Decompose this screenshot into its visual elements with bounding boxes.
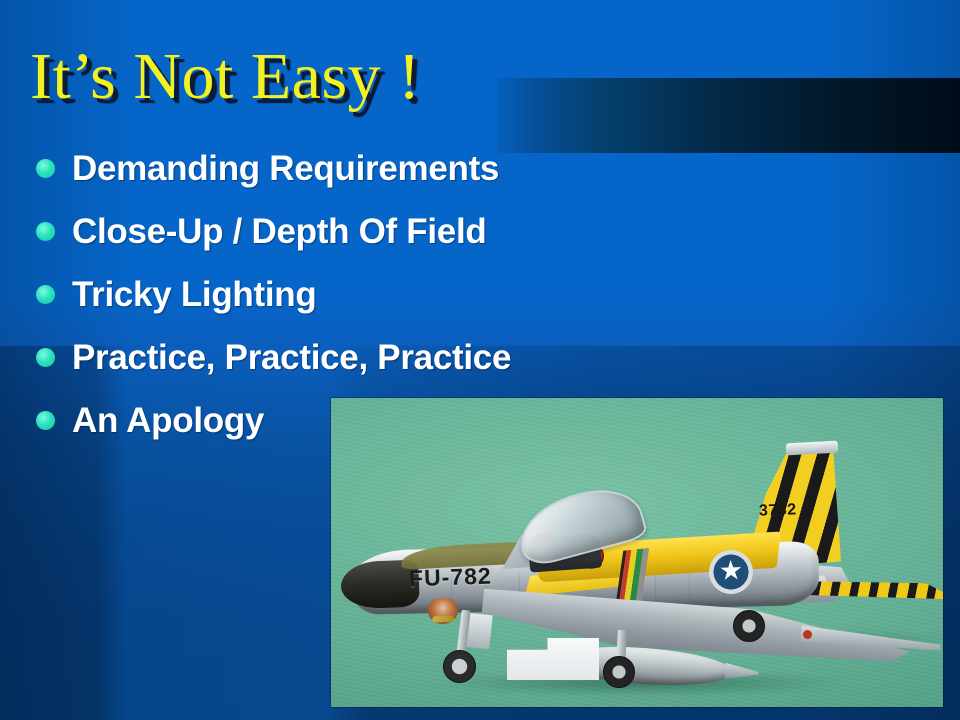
bullet-dot-icon: [36, 348, 55, 367]
bullet-label: Close-Up / Depth Of Field: [72, 212, 486, 252]
bullet-dot-icon: [36, 285, 55, 304]
model-aircraft-photo: 3782 FU-782: [331, 398, 943, 707]
tail-number: 3782: [759, 501, 797, 520]
nose-serial: FU-782: [409, 563, 493, 593]
slide-title: It’s Not Easy !: [30, 44, 421, 110]
presentation-slide: It’s Not Easy ! Demanding Requirements C…: [0, 0, 960, 720]
bullet-label: Tricky Lighting: [72, 275, 316, 315]
main-landing-gear-wheel-far: [733, 610, 765, 642]
list-item: Close-Up / Depth Of Field: [36, 200, 736, 263]
list-item: Practice, Practice, Practice: [36, 326, 736, 389]
bullet-dot-icon: [36, 159, 55, 178]
list-item: Tricky Lighting: [36, 263, 736, 326]
list-item: Demanding Requirements: [36, 137, 736, 200]
bullet-dot-icon: [36, 222, 55, 241]
bullet-dot-icon: [36, 411, 55, 430]
bullet-label: Demanding Requirements: [72, 149, 499, 189]
bullet-label: Practice, Practice, Practice: [72, 338, 511, 378]
nose-landing-gear-wheel: [443, 650, 476, 683]
bullet-label: An Apology: [72, 401, 264, 441]
wing-navigation-light: [803, 630, 812, 639]
main-landing-gear-wheel: [603, 656, 635, 688]
